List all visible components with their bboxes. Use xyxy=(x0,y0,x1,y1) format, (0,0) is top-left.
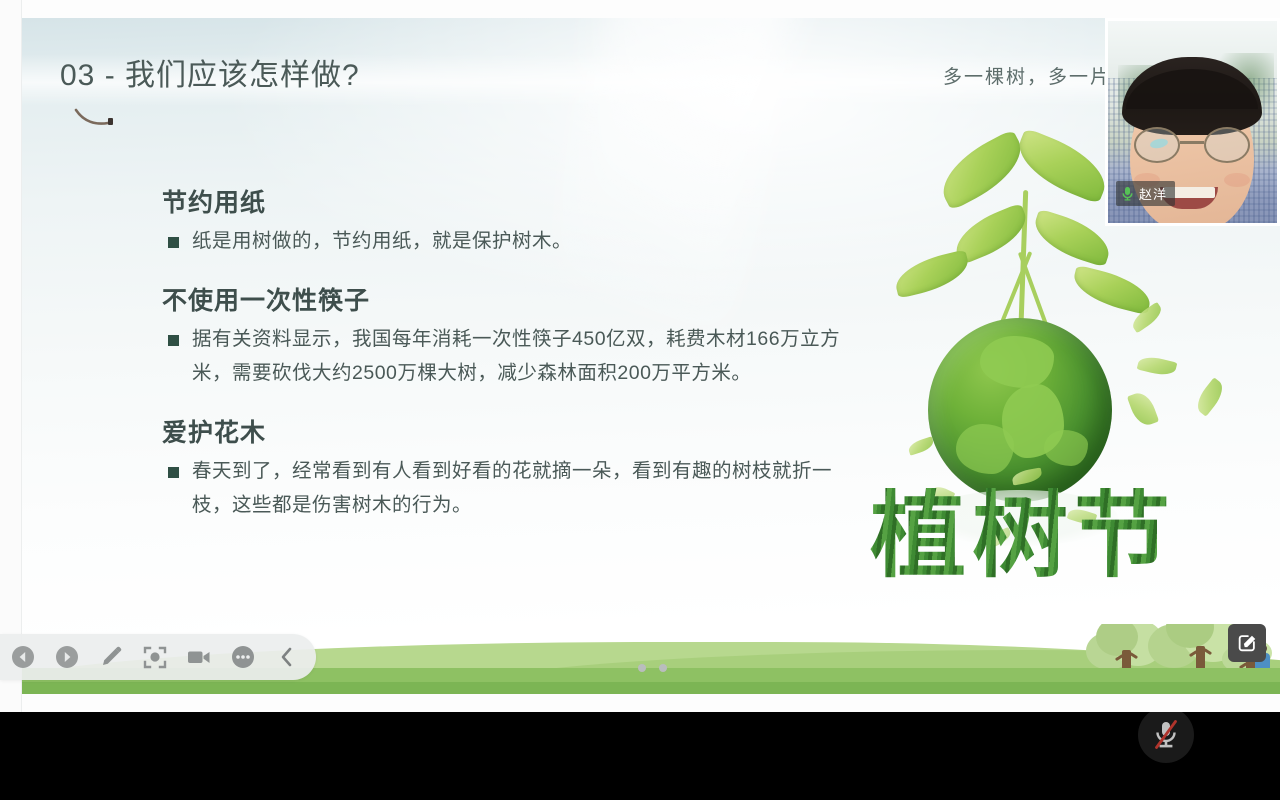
participant-name-badge: 赵洋 xyxy=(1116,181,1175,206)
previous-slide-button[interactable] xyxy=(10,644,36,670)
annotate-button[interactable] xyxy=(1228,624,1266,662)
collapse-toolbar-button[interactable] xyxy=(274,644,300,670)
section-save-paper: 节约用纸 纸是用树做的，节约用纸，就是保护树木。 xyxy=(162,183,842,259)
page-dot[interactable] xyxy=(659,664,667,672)
screen-share-window: 03 - 我们应该怎样做? 多一棵树，多一片叶 节约用纸 纸是用树做的，节约用纸… xyxy=(0,0,1280,800)
ellipsis-icon xyxy=(230,644,256,670)
bullet-square-icon xyxy=(168,467,179,478)
page-dot[interactable] xyxy=(638,664,646,672)
presenter-video-tile[interactable]: 赵洋 xyxy=(1105,18,1280,226)
slide-stage: 03 - 我们应该怎样做? 多一棵树，多一片叶 节约用纸 纸是用树做的，节约用纸… xyxy=(0,0,1280,712)
sprout-leaf-low-right xyxy=(1069,265,1154,315)
chevron-left-circle-icon xyxy=(10,644,36,670)
bullet-text: 春天到了，经常看到有人看到好看的花就摘一朵，看到有趣的树枝就折一枝，这些都是伤害… xyxy=(192,455,842,523)
next-slide-button[interactable] xyxy=(54,644,80,670)
annotate-pen-button[interactable] xyxy=(98,644,124,670)
record-video-button[interactable] xyxy=(186,644,212,670)
sprout-leaf-low-left xyxy=(891,249,972,298)
bullet-item: 纸是用树做的，节约用纸，就是保护树木。 xyxy=(162,225,842,259)
sprout-leaf-top-left xyxy=(931,129,1033,211)
microphone-muted-icon xyxy=(1151,719,1181,751)
pencil-icon xyxy=(98,644,124,670)
section-no-disposable-chopsticks: 不使用一次性筷子 据有关资料显示，我国每年消耗一次性筷子450亿双，耗费木材16… xyxy=(162,281,842,391)
focus-target-icon xyxy=(142,644,168,670)
bullet-square-icon xyxy=(168,335,179,346)
pencil-square-icon xyxy=(1236,632,1258,654)
section-heading: 不使用一次性筷子 xyxy=(162,281,842,317)
floating-leaf xyxy=(1127,389,1159,428)
section-heading: 节约用纸 xyxy=(162,183,842,219)
chevron-left-icon xyxy=(278,646,296,668)
sprout-leaf-mid-right xyxy=(1028,209,1115,268)
bullet-text: 纸是用树做的，节约用纸，就是保护树木。 xyxy=(192,225,572,259)
bullet-text: 据有关资料显示，我国每年消耗一次性筷子450亿双，耗费木材166万立方米，需要砍… xyxy=(192,323,842,391)
bird-swoosh-icon xyxy=(74,106,124,128)
video-camera-icon xyxy=(186,644,212,670)
bullet-item: 据有关资料显示，我国每年消耗一次性筷子450亿双，耗费木材166万立方米，需要砍… xyxy=(162,323,842,391)
page-indicator[interactable] xyxy=(638,664,667,672)
section-heading: 爱护花木 xyxy=(162,413,842,449)
presentation-slide[interactable]: 03 - 我们应该怎样做? 多一棵树，多一片叶 节约用纸 纸是用树做的，节约用纸… xyxy=(22,18,1280,694)
floating-leaf xyxy=(907,436,935,455)
more-options-button[interactable] xyxy=(230,644,256,670)
floating-leaf xyxy=(1192,377,1228,416)
bottom-bar xyxy=(0,712,1280,800)
microphone-icon xyxy=(1121,186,1134,201)
stage-left-gutter xyxy=(0,0,22,712)
page-title: 03 - 我们应该怎样做? xyxy=(60,50,360,94)
bullet-item: 春天到了，经常看到有人看到好看的花就摘一朵，看到有趣的树枝就折一枝，这些都是伤害… xyxy=(162,455,842,523)
chevron-right-circle-icon xyxy=(54,644,80,670)
laser-focus-button[interactable] xyxy=(142,644,168,670)
floating-leaf xyxy=(1137,354,1178,379)
participant-name: 赵洋 xyxy=(1139,184,1167,203)
arbor-day-wordmark: 植树节 xyxy=(870,488,1176,584)
presenter-glasses xyxy=(1132,127,1252,163)
bullet-square-icon xyxy=(168,237,179,248)
mute-microphone-button[interactable] xyxy=(1138,707,1194,763)
presenter-toolbar[interactable] xyxy=(0,634,316,680)
slide-body: 节约用纸 纸是用树做的，节约用纸，就是保护树木。 不使用一次性筷子 据有关资料显… xyxy=(162,183,842,529)
section-protect-plants: 爱护花木 春天到了，经常看到有人看到好看的花就摘一朵，看到有趣的树枝就折一枝，这… xyxy=(162,413,842,523)
